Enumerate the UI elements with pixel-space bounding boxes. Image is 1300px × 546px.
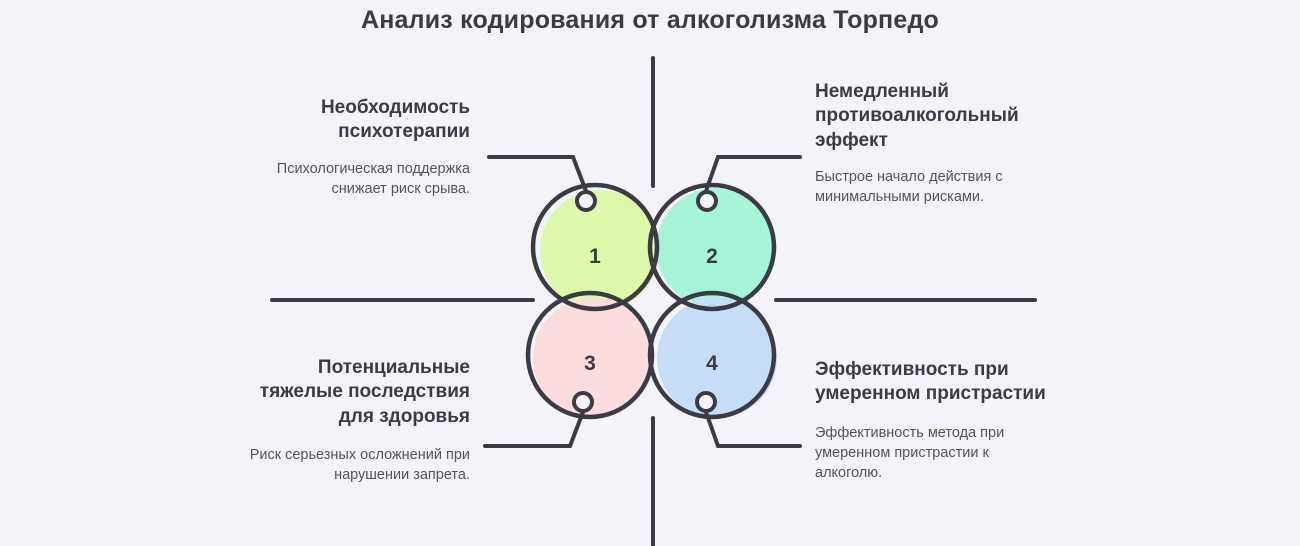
quadrant-block-1: Необходимость психотерапии Психологическ… [235,96,470,199]
venn-diagram [0,0,1300,546]
quadrant-1-body: Психологическая поддержка снижает риск с… [235,159,470,199]
quadrant-3-body: Риск серьезных осложнений при нарушении … [235,445,470,485]
circle-number-3: 3 [575,352,605,376]
connector-4-node [697,393,715,411]
quadrant-2-heading: Немедленный противоалкогольный эффект [815,80,1070,153]
infographic-root: Анализ кодирования от алкоголизма Торпед… [0,0,1300,546]
quadrant-2-body: Быстрое начало действия с минимальными р… [815,167,1070,207]
quadrant-block-4: Эффективность при умеренном пристрастии … [815,358,1060,483]
connector-3 [485,393,592,446]
quadrant-block-3: Потенциальные тяжелые последствия для зд… [235,356,470,485]
quadrant-1-heading: Необходимость психотерапии [235,96,470,145]
connector-1 [489,157,595,210]
quadrant-4-heading: Эффективность при умеренном пристрастии [815,358,1060,407]
quadrant-4-body: Эффективность метода при умеренном прист… [815,423,1060,483]
circle-number-4: 4 [697,352,727,376]
connector-1-node [577,192,595,210]
circle-number-2: 2 [697,245,727,269]
connector-2-node [698,192,716,210]
quadrant-block-2: Немедленный противоалкогольный эффект Бы… [815,80,1070,207]
connector-3-node [574,393,592,411]
circle-number-1: 1 [580,245,610,269]
quadrant-3-heading: Потенциальные тяжелые последствия для зд… [235,356,470,429]
